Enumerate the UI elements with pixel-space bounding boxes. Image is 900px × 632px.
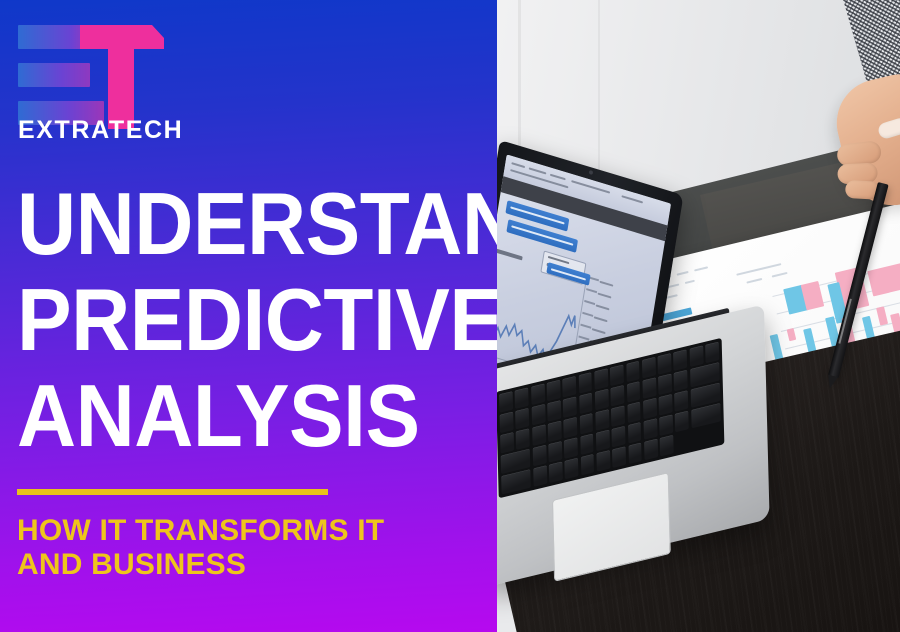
webcam-dot bbox=[589, 170, 594, 175]
page-title-line-2: PREDICTIVE bbox=[17, 272, 454, 368]
brand-wordmark: EXTRATECH bbox=[18, 118, 183, 143]
page-title: UNDERSTANDING PREDICTIVE ANALYSIS bbox=[17, 176, 454, 464]
et-monogram-logo[interactable] bbox=[18, 25, 168, 130]
logo-bar-middle bbox=[18, 63, 90, 87]
banner-image: EXTRATECH UNDERSTANDING PREDICTIVE ANALY… bbox=[0, 0, 900, 632]
page-subtitle: HOW IT TRANSFORMS IT AND BUSINESS bbox=[17, 514, 477, 582]
page-title-line-3: ANALYSIS bbox=[17, 368, 454, 464]
page-title-line-1: UNDERSTANDING bbox=[17, 176, 454, 272]
title-divider bbox=[17, 489, 328, 495]
page-subtitle-line-2: AND BUSINESS bbox=[17, 548, 477, 582]
title-panel: EXTRATECH UNDERSTANDING PREDICTIVE ANALY… bbox=[0, 0, 497, 632]
page-subtitle-line-1: HOW IT TRANSFORMS IT bbox=[17, 514, 477, 548]
